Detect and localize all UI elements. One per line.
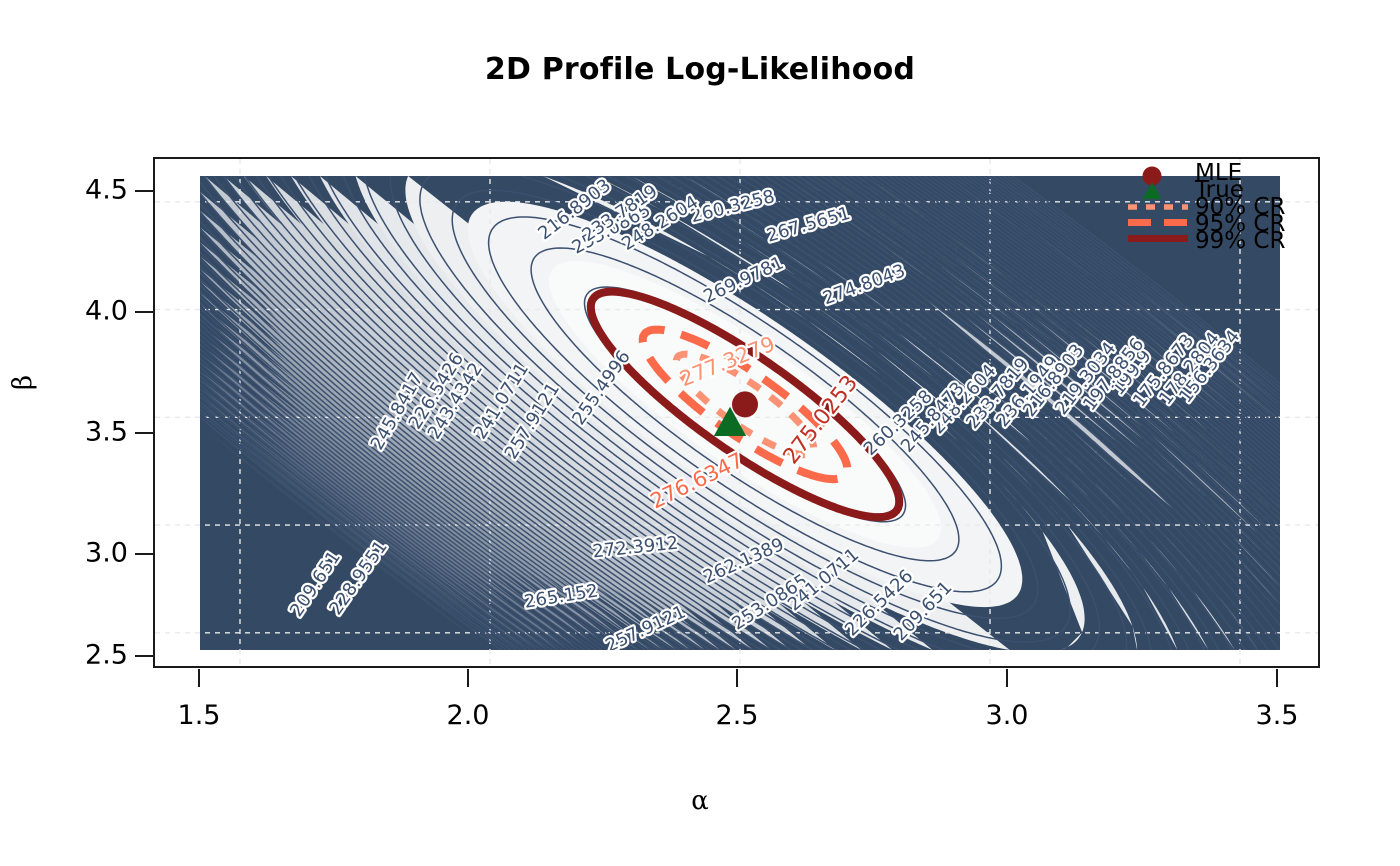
ytick-mark xyxy=(135,311,153,313)
ytick-mark xyxy=(135,190,153,192)
ytick-mark xyxy=(135,432,153,434)
xtick-mark xyxy=(736,669,738,687)
x-axis-label: α xyxy=(0,786,1400,816)
page-title: 2D Profile Log-Likelihood xyxy=(0,52,1400,87)
xtick-label-2-5: 2.5 xyxy=(716,700,759,731)
xtick-label-3-5: 3.5 xyxy=(1256,700,1299,731)
legend-true-triangle-icon xyxy=(1139,179,1165,205)
xtick-label-2-0: 2.0 xyxy=(447,700,490,731)
ytick-label-4-5: 4.5 xyxy=(85,175,128,206)
xtick-label-3-0: 3.0 xyxy=(986,700,1029,731)
ytick-label-3-5: 3.5 xyxy=(85,417,128,448)
ytick-label-2-5: 2.5 xyxy=(85,640,128,671)
xtick-mark xyxy=(467,669,469,687)
mle-marker xyxy=(732,391,758,417)
ytick-label-3-0: 3.0 xyxy=(85,538,128,569)
xtick-label-1-5: 1.5 xyxy=(178,700,221,731)
ytick-mark xyxy=(135,655,153,657)
legend-95cr-line-icon xyxy=(1127,218,1189,227)
legend-99cr-line-icon xyxy=(1127,234,1189,243)
y-axis-label: β xyxy=(8,375,38,390)
xtick-mark xyxy=(1276,669,1278,687)
xtick-mark xyxy=(1006,669,1008,687)
figure-root: 2D Profile Log-Likelihood 4.5 4.0 3.5 3.… xyxy=(0,0,1400,866)
xtick-mark xyxy=(198,669,200,687)
legend-label-99-cr: 99% CR xyxy=(1195,228,1285,254)
legend: MLE True 90% CR 95% CR 99% CR xyxy=(1125,160,1325,260)
legend-90cr-line-icon xyxy=(1127,203,1189,211)
ytick-mark xyxy=(135,553,153,555)
ytick-label-4-0: 4.0 xyxy=(85,296,128,327)
